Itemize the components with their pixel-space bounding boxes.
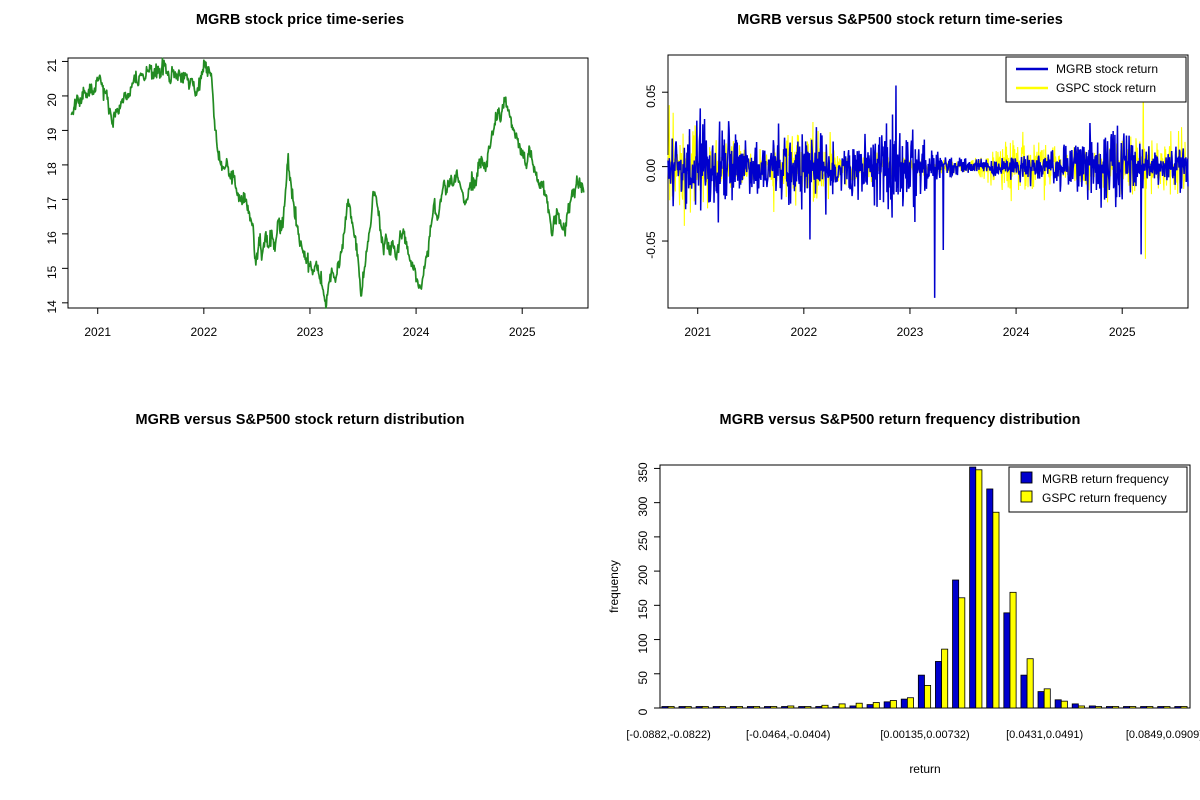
hist-bar-mgrb xyxy=(935,661,941,708)
y-tick-label: 16 xyxy=(45,231,59,245)
hist-bar-mgrb xyxy=(713,707,719,709)
legend-label-0: MGRB stock return xyxy=(1056,62,1158,76)
x-axis-title: return xyxy=(909,762,940,776)
hist-bar-gspc xyxy=(719,707,725,709)
x-tick-label: 2024 xyxy=(403,325,430,339)
hist-bar-mgrb xyxy=(679,707,685,709)
hist-bar-gspc xyxy=(924,685,930,708)
hist-bar-mgrb xyxy=(884,702,890,708)
y-tick-label: 150 xyxy=(636,599,650,619)
y-tick-label: 350 xyxy=(636,462,650,482)
hist-bar-mgrb xyxy=(901,699,907,708)
x-tick-label: 2025 xyxy=(509,325,536,339)
hist-bar-gspc xyxy=(1181,707,1187,709)
y-tick-label: 0.05 xyxy=(644,84,658,108)
hist-bar-gspc xyxy=(1147,707,1153,709)
legend-label-0: MGRB return frequency xyxy=(1042,472,1169,486)
hist-bar-mgrb xyxy=(1072,704,1078,708)
x-tick-label: 2024 xyxy=(1003,325,1030,339)
hist-bar-gspc xyxy=(668,707,674,709)
hist-bar-gspc xyxy=(1078,706,1084,708)
legend-swatch-1 xyxy=(1021,491,1032,502)
y-tick-label: 50 xyxy=(636,671,650,685)
x-tick-label: 2023 xyxy=(297,325,324,339)
hist-bar-mgrb xyxy=(1089,706,1095,708)
return-density-plot: 01020304050-0.050.000.05MGRB return dist… xyxy=(0,400,600,800)
hist-bar-gspc xyxy=(754,707,760,709)
hist-bar-mgrb xyxy=(799,707,805,709)
hist-bar-mgrb xyxy=(918,675,924,708)
hist-bar-gspc xyxy=(1113,707,1119,709)
hist-bar-gspc xyxy=(771,707,777,709)
hist-bar-mgrb xyxy=(1158,707,1164,709)
hist-bar-gspc xyxy=(788,706,794,708)
hist-bar-mgrb xyxy=(696,707,702,709)
hist-bar-gspc xyxy=(907,698,913,708)
y-tick-label: 18 xyxy=(45,162,59,176)
hist-bar-gspc xyxy=(685,707,691,709)
y-tick-label: 0.00 xyxy=(644,159,658,183)
panel-return-frequency: MGRB versus S&P500 return frequency dist… xyxy=(600,400,1200,800)
hist-bar-gspc xyxy=(1164,707,1170,709)
hist-bar-gspc xyxy=(822,705,828,708)
return-series-plot: -0.050.000.0520212022202320242025MGRB st… xyxy=(600,0,1200,400)
hist-bar-mgrb xyxy=(730,707,736,709)
legend-swatch-0 xyxy=(1021,472,1032,483)
hist-bar-mgrb xyxy=(867,705,873,708)
price-series-plot: 141516171819202120212022202320242025 xyxy=(0,0,600,400)
hist-bar-gspc xyxy=(890,700,896,708)
hist-bar-mgrb xyxy=(1106,707,1112,709)
hist-bar-gspc xyxy=(942,649,948,708)
return-frequency-plot: 050100150200250300350frequency[-0.0882,-… xyxy=(600,400,1200,800)
hist-bar-mgrb xyxy=(662,707,668,709)
plot-frame xyxy=(68,58,588,308)
y-tick-label: 20 xyxy=(45,93,59,107)
panel-return-density: MGRB versus S&P500 stock return distribu… xyxy=(0,400,600,800)
y-tick-label: -0.05 xyxy=(644,231,658,259)
legend-label-1: GSPC return frequency xyxy=(1042,491,1167,505)
hist-bar-gspc xyxy=(736,707,742,709)
x-tick-label: 2022 xyxy=(790,325,817,339)
hist-bar-mgrb xyxy=(970,467,976,708)
y-tick-label: 17 xyxy=(45,196,59,210)
hist-bar-mgrb xyxy=(1038,692,1044,708)
hist-bar-gspc xyxy=(993,512,999,708)
hist-bar-mgrb xyxy=(833,707,839,709)
x-tick-label: 2021 xyxy=(84,325,111,339)
hist-bar-gspc xyxy=(1027,659,1033,708)
hist-bar-mgrb xyxy=(1055,700,1061,708)
x-tick-label: 2022 xyxy=(190,325,217,339)
figure-grid: MGRB stock price time-series 14151617181… xyxy=(0,0,1200,800)
hist-bar-mgrb xyxy=(1141,707,1147,709)
x-tick-label: 2025 xyxy=(1109,325,1136,339)
hist-bar-gspc xyxy=(839,704,845,708)
y-tick-label: 15 xyxy=(45,265,59,279)
y-tick-label: 21 xyxy=(45,58,59,72)
hist-bar-gspc xyxy=(702,707,708,709)
hist-bar-gspc xyxy=(1095,707,1101,709)
x-tick-label: [-0.0464,-0.0404) xyxy=(746,729,830,741)
hist-bar-mgrb xyxy=(782,707,788,709)
hist-bar-mgrb xyxy=(1175,707,1181,709)
panel-price-series: MGRB stock price time-series 14151617181… xyxy=(0,0,600,400)
hist-bar-gspc xyxy=(1061,701,1067,708)
y-tick-label: 19 xyxy=(45,127,59,141)
x-tick-label: 2021 xyxy=(684,325,711,339)
hist-bar-gspc xyxy=(873,703,879,708)
return-line-mgrb xyxy=(668,86,1188,298)
hist-bar-mgrb xyxy=(1123,707,1129,709)
hist-bar-mgrb xyxy=(850,706,856,708)
hist-bar-gspc xyxy=(976,470,982,708)
x-tick-label: [0.00135,0.00732) xyxy=(880,729,969,741)
x-tick-label: [-0.0882,-0.0822) xyxy=(626,729,710,741)
hist-bar-gspc xyxy=(959,598,965,708)
y-tick-label: 100 xyxy=(636,633,650,653)
y-tick-label: 200 xyxy=(636,565,650,585)
y-tick-label: 250 xyxy=(636,531,650,551)
hist-bar-mgrb xyxy=(747,707,753,709)
hist-bar-gspc xyxy=(1010,592,1016,708)
hist-bar-mgrb xyxy=(816,707,822,709)
hist-bar-gspc xyxy=(1044,689,1050,708)
hist-bar-mgrb xyxy=(987,489,993,708)
y-tick-label: 300 xyxy=(636,496,650,516)
hist-bar-mgrb xyxy=(1021,675,1027,708)
y-axis-title: frequency xyxy=(607,560,621,613)
hist-bar-mgrb xyxy=(1004,613,1010,708)
x-tick-label: 2023 xyxy=(897,325,924,339)
hist-bar-gspc xyxy=(856,703,862,708)
hist-bar-gspc xyxy=(805,707,811,709)
y-tick-label: 14 xyxy=(45,300,59,314)
hist-bar-mgrb xyxy=(764,707,770,709)
hist-bar-gspc xyxy=(1130,707,1136,709)
x-tick-label: [0.0849,0.0909) xyxy=(1126,729,1200,741)
panel-return-series: MGRB versus S&P500 stock return time-ser… xyxy=(600,0,1200,400)
price-line-mgrb xyxy=(71,58,584,308)
x-tick-label: [0.0431,0.0491) xyxy=(1006,729,1083,741)
y-tick-label: 0 xyxy=(636,708,650,715)
hist-bar-mgrb xyxy=(953,580,959,708)
legend-label-1: GSPC stock return xyxy=(1056,81,1156,95)
